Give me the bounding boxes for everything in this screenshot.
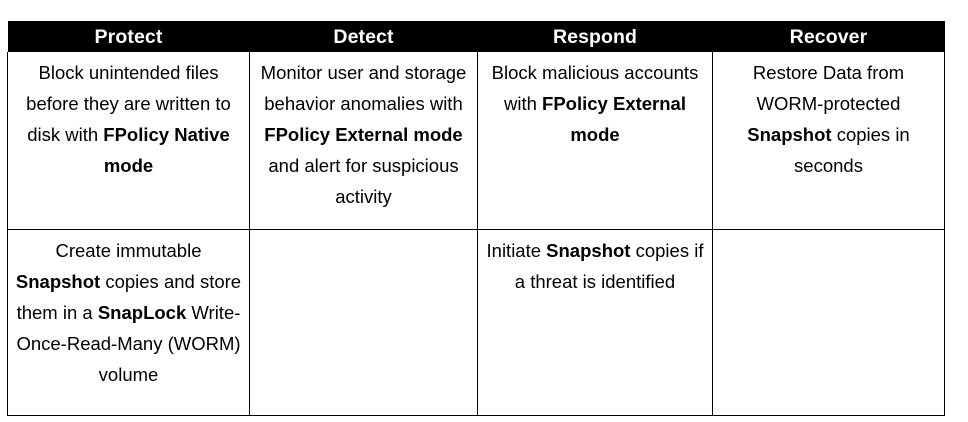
cell-recover-2 bbox=[713, 230, 945, 416]
cell-text bbox=[256, 235, 471, 236]
column-header-protect: Protect bbox=[8, 21, 250, 52]
page-root: Protect Detect Respond Recover Block uni… bbox=[0, 0, 968, 422]
cell-respond-2: Initiate Snapshot copies if a threat is … bbox=[478, 230, 713, 416]
cell-text: Block malicious accounts with FPolicy Ex… bbox=[484, 57, 706, 150]
cell-text: Monitor user and storage behavior anomal… bbox=[256, 57, 471, 212]
cell-recover-1: Restore Data from WORM-protected Snapsho… bbox=[713, 52, 945, 230]
cell-respond-1: Block malicious accounts with FPolicy Ex… bbox=[478, 52, 713, 230]
cell-text: Initiate Snapshot copies if a threat is … bbox=[484, 235, 706, 297]
column-header-recover: Recover bbox=[713, 21, 945, 52]
column-header-detect: Detect bbox=[250, 21, 478, 52]
table-body: Block unintended files before they are w… bbox=[8, 52, 945, 416]
cell-text: Restore Data from WORM-protected Snapsho… bbox=[719, 57, 938, 181]
cell-protect-1: Block unintended files before they are w… bbox=[8, 52, 250, 230]
cell-text: Create immutable Snapshot copies and sto… bbox=[14, 235, 243, 390]
table-row: Create immutable Snapshot copies and sto… bbox=[8, 230, 945, 416]
column-header-respond: Respond bbox=[478, 21, 713, 52]
cell-detect-2 bbox=[250, 230, 478, 416]
cell-protect-2: Create immutable Snapshot copies and sto… bbox=[8, 230, 250, 416]
cell-detect-1: Monitor user and storage behavior anomal… bbox=[250, 52, 478, 230]
cell-text bbox=[719, 235, 938, 236]
table-row: Block unintended files before they are w… bbox=[8, 52, 945, 230]
capability-table: Protect Detect Respond Recover Block uni… bbox=[7, 21, 945, 416]
cell-text: Block unintended files before they are w… bbox=[14, 57, 243, 181]
table-header: Protect Detect Respond Recover bbox=[8, 21, 945, 52]
table-header-row: Protect Detect Respond Recover bbox=[8, 21, 945, 52]
